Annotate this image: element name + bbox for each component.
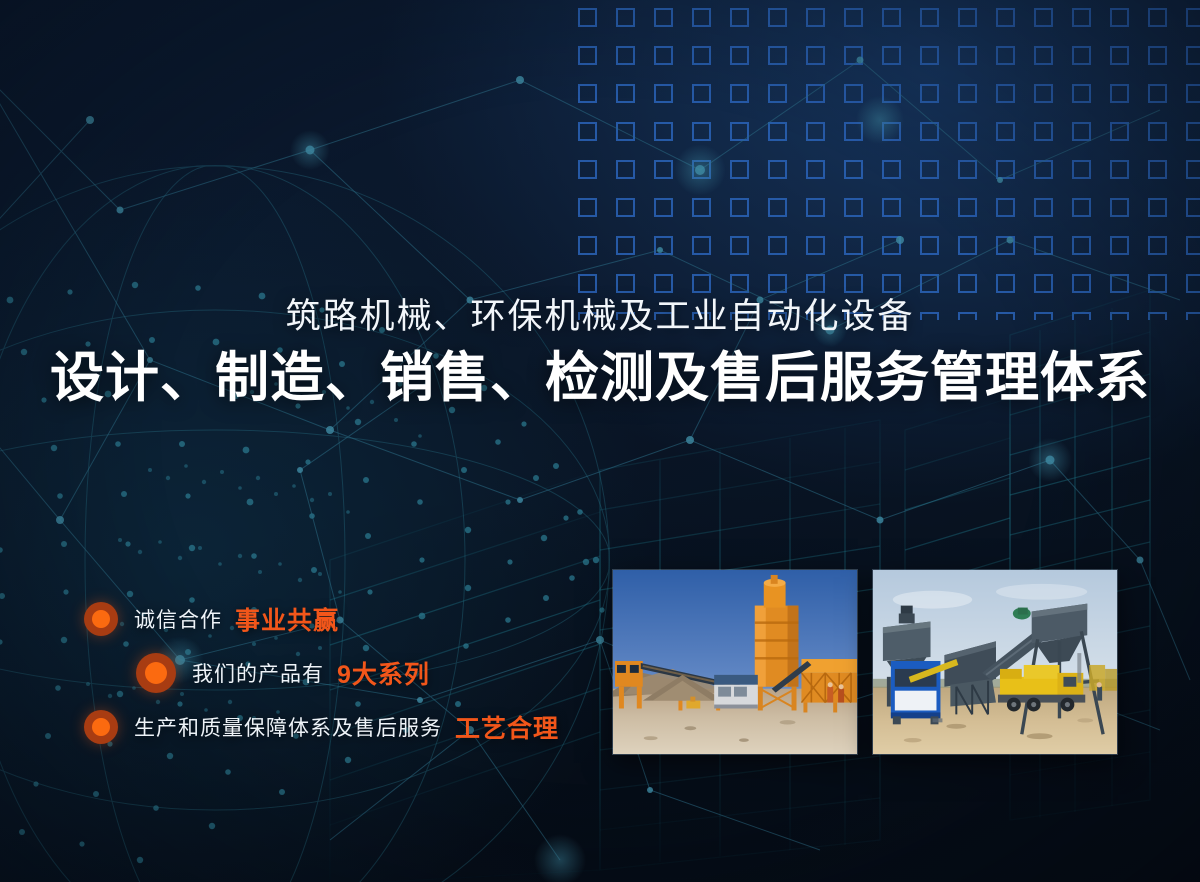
- square-grid-decor: [560, 0, 1200, 330]
- concrete-batching-plant-photo: [612, 569, 858, 755]
- selling-point-label-3: 生产和质量保障体系及售后服务: [134, 712, 442, 742]
- selling-point-accent-1: 事业共赢: [235, 601, 339, 637]
- selling-point-item-1: 诚信合作 事业共赢: [0, 596, 600, 642]
- headline-block: 筑路机械、环保机械及工业自动化设备 设计、制造、销售、检测及售后服务管理体系: [0, 297, 1200, 409]
- dotted-globe-decor: [0, 165, 610, 882]
- selling-point-item-3: 生产和质量保障体系及售后服务 工艺合理: [0, 704, 600, 750]
- mobile-mixing-plant-photo: [872, 569, 1118, 755]
- bullet-dot-icon: [84, 602, 118, 636]
- selling-point-label-1: 诚信合作: [134, 604, 222, 634]
- banner-heading: 设计、制造、销售、检测及售后服务管理体系: [0, 349, 1200, 408]
- selling-point-item-2: 我们的产品有 9大系列: [0, 650, 600, 696]
- network-node-glow-decor: [156, 96, 1072, 882]
- selling-points-list: 诚信合作 事业共赢 我们的产品有 9大系列 生产和质量保障体系及售后服务 工艺合…: [0, 596, 600, 758]
- bullet-dot-icon: [84, 710, 118, 744]
- banner-subheading: 筑路机械、环保机械及工业自动化设备: [0, 297, 1200, 336]
- selling-point-label-2: 我们的产品有: [192, 658, 324, 688]
- hero-banner: 筑路机械、环保机械及工业自动化设备 设计、制造、销售、检测及售后服务管理体系 诚…: [0, 0, 1200, 882]
- selling-point-accent-2: 9大系列: [337, 655, 430, 691]
- selling-point-accent-3: 工艺合理: [455, 709, 559, 745]
- bullet-dot-icon: [136, 653, 176, 693]
